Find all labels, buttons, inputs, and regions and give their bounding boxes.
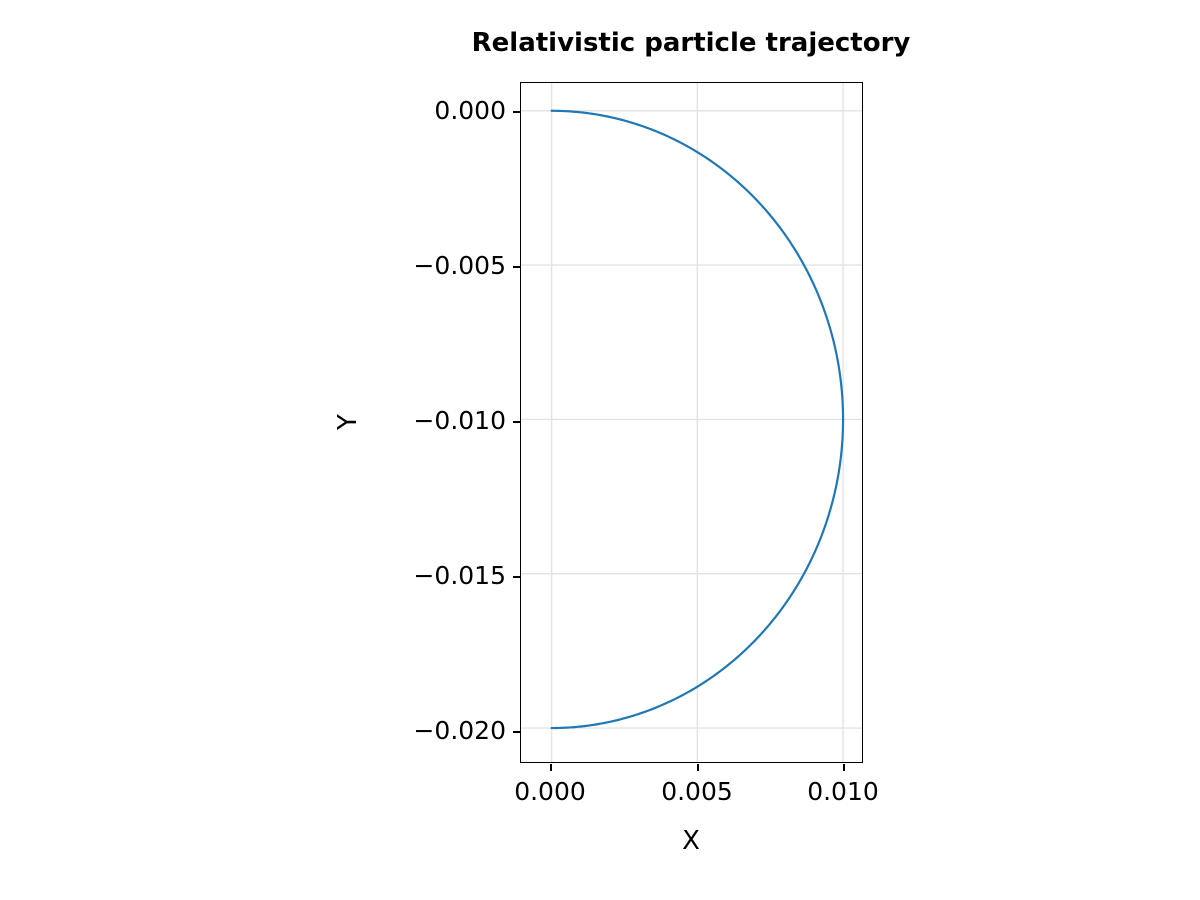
y-axis-label: Y (333, 406, 363, 438)
y-tick-label-2: −0.010 (386, 406, 506, 435)
x-tick-label-1: 0.005 (626, 777, 768, 806)
x-axis-label: X (641, 826, 741, 856)
figure-canvas: Relativistic particle trajectory Y X 0.0… (0, 0, 1200, 900)
x-tick-mark-0 (550, 764, 552, 771)
x-tick-mark-2 (843, 764, 845, 771)
y-tick-label-1: −0.005 (386, 251, 506, 280)
x-tick-label-0: 0.000 (479, 777, 621, 806)
y-tick-mark-2 (513, 421, 520, 423)
y-tick-mark-1 (513, 266, 520, 268)
y-tick-mark-0 (513, 111, 520, 113)
x-tick-label-2: 0.010 (772, 777, 914, 806)
y-tick-label-3: −0.015 (386, 561, 506, 590)
plot-svg (521, 83, 862, 762)
gridlines (521, 83, 862, 762)
y-tick-mark-3 (513, 576, 520, 578)
y-tick-label-4: −0.020 (386, 716, 506, 745)
y-tick-mark-4 (513, 731, 520, 733)
chart-title: Relativistic particle trajectory (91, 28, 1200, 58)
plot-area (520, 82, 863, 763)
y-tick-label-0: 0.000 (386, 96, 506, 125)
x-tick-mark-1 (697, 764, 699, 771)
